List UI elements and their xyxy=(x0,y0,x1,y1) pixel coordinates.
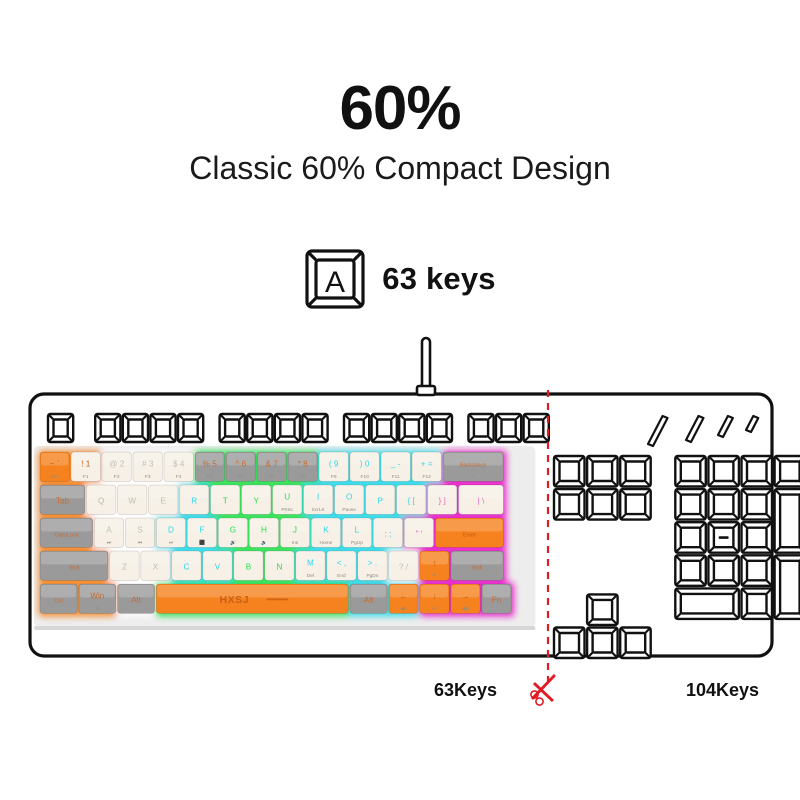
key-legend-main: ↑ xyxy=(432,558,436,567)
key-c[interactable]: C xyxy=(172,551,201,580)
key-legend-main: U xyxy=(284,492,290,501)
key-shift[interactable]: Shift xyxy=(40,551,108,580)
key-i[interactable]: IScrLK xyxy=(304,485,333,514)
key-legend-sub: F9 xyxy=(331,474,337,480)
outline-key-nav-top xyxy=(496,414,521,442)
key-fn[interactable]: Fn xyxy=(482,584,511,613)
key-legend-main: $ 4 xyxy=(173,459,185,468)
key-legend-main: C xyxy=(183,563,189,572)
outline-key-numpad xyxy=(708,456,739,487)
caption-63-keys: 63Keys xyxy=(434,680,497,701)
key-legend-sub: Ins xyxy=(292,540,299,546)
key-m[interactable]: MDel xyxy=(296,551,325,580)
outline-key-numpad xyxy=(742,555,773,586)
key-legend-sub: ⏭ xyxy=(107,541,112,546)
key--[interactable]: ↓☀ xyxy=(420,584,449,613)
key-legend-main: A xyxy=(106,525,112,534)
keycap-top xyxy=(747,594,767,614)
key-legend-sub: ◀× xyxy=(400,606,407,612)
page-subtitle: Classic 60% Compact Design xyxy=(0,150,800,187)
key-n[interactable]: N xyxy=(265,551,294,580)
key-h[interactable]: H🔉 xyxy=(249,518,278,547)
key--8[interactable]: * 8F8 xyxy=(288,452,317,481)
key-legend-main: ← xyxy=(399,591,407,600)
key-enter[interactable]: Enter xyxy=(435,518,503,547)
outline-key-numpad xyxy=(675,456,706,487)
key-legend-main: N xyxy=(276,563,282,572)
key-legend-main: S xyxy=(137,525,143,534)
key--5[interactable]: % 5F5 xyxy=(195,452,224,481)
keycap-top xyxy=(593,600,613,620)
keycap-top xyxy=(747,561,767,581)
outline-key-nav xyxy=(620,489,651,519)
keycap-top xyxy=(747,528,767,548)
key-legend-sub: ⏯ xyxy=(169,541,173,546)
key--[interactable]: " ' xyxy=(404,518,433,547)
key-legend-sub: 🔊 xyxy=(230,539,236,546)
key-legend-sub: F4 xyxy=(176,474,182,480)
key-legend-main: R xyxy=(191,497,197,506)
outline-key-numpad xyxy=(708,555,739,586)
key-w[interactable]: W xyxy=(118,485,147,514)
key-d[interactable]: D⏯ xyxy=(156,518,185,547)
key-legend-main: X xyxy=(153,563,159,572)
key-legend-main: : ; xyxy=(385,530,392,539)
key-legend-main: & 7 xyxy=(266,459,279,468)
key-legend-sub: End xyxy=(337,573,346,579)
caption-104-keys: 104Keys xyxy=(686,680,759,701)
key-backspace[interactable]: Backspace○ xyxy=(443,452,503,481)
key-legend-sub: 🔉 xyxy=(261,540,267,546)
keycap-top xyxy=(714,462,734,482)
key-row-home-row: CapsLockA⏭S⏮D⏯F⬛G🔊H🔉JInsKHomeLPgUp: ;" '… xyxy=(40,518,503,547)
key-s[interactable]: S⏮ xyxy=(125,518,154,547)
keycap-top xyxy=(681,561,701,581)
keycap-top xyxy=(474,420,488,437)
key-legend-main: * 8 xyxy=(298,459,308,468)
outline-key-numpad xyxy=(742,456,773,487)
keycap-top xyxy=(681,528,701,548)
keyboard-front-lip xyxy=(34,626,535,630)
outline-key-arrow xyxy=(620,628,651,659)
key--[interactable]: + =F12 xyxy=(412,452,441,481)
key-legend-main: P xyxy=(377,497,383,506)
keycap-top xyxy=(101,420,115,437)
key-legend-main: | \ xyxy=(478,497,485,506)
key--[interactable]: | \ xyxy=(459,485,504,514)
key-legend-main: # 3 xyxy=(142,459,154,468)
key-count-label: 63 keys xyxy=(382,261,495,297)
key--1[interactable]: ! 1F1 xyxy=(71,452,100,481)
keycap-top xyxy=(780,561,800,614)
key--[interactable]: < ,End xyxy=(327,551,356,580)
key-legend-sub: ◀)) xyxy=(462,606,469,612)
key-u[interactable]: UPrtSc xyxy=(273,485,302,514)
keycap-top xyxy=(560,495,580,514)
key-legend-main: ? / xyxy=(399,563,409,572)
keycap-top xyxy=(747,495,767,514)
key-legend-main: CapsLock xyxy=(54,533,78,539)
compact-keyboard-keys: ~ `Esc! 1F1@ 2F2# 3F3$ 4F4% 5F5^ 6F6& 7F… xyxy=(40,452,511,613)
key-legend-main: ( 9 xyxy=(329,459,339,468)
key-row-shift-row: ShiftZXCVBNMDel< ,End> .PgDn? /↑☀Shift xyxy=(40,551,503,580)
outline-key-function xyxy=(399,414,424,442)
key-ctrl[interactable]: Ctrl xyxy=(40,584,77,613)
key-legend-main: F xyxy=(199,525,204,534)
outline-key-numpad xyxy=(675,489,706,519)
key-row-modifier-row: CtrlWin⊞AltHXSJAlt←◀×↓☀→◀))Fn xyxy=(40,584,511,613)
keycap-top xyxy=(529,420,543,437)
key-v[interactable]: V xyxy=(203,551,232,580)
key--[interactable]: : ; xyxy=(373,518,402,547)
outline-key-numpad xyxy=(742,489,773,519)
key-legend-sub: F11 xyxy=(392,474,400,480)
outline-key-numpad xyxy=(675,522,706,553)
keycap-top xyxy=(780,495,800,548)
key-legend-main: Shift xyxy=(472,566,483,572)
key--9[interactable]: ( 9F9 xyxy=(319,452,348,481)
page-title: 60% xyxy=(0,78,800,140)
key-legend-main: + = xyxy=(421,459,433,468)
key-legend-main: L xyxy=(355,525,360,534)
key-shift[interactable]: Shift xyxy=(451,551,504,580)
key--7[interactable]: & 7F7 xyxy=(257,452,286,481)
outline-key-nav-top xyxy=(524,414,549,442)
key-legend-sub: F3 xyxy=(145,474,151,480)
key-legend-main: J xyxy=(293,525,297,534)
outline-key-numpad-zero xyxy=(675,588,739,619)
cable-connector xyxy=(417,386,435,395)
key--[interactable]: ? / xyxy=(389,551,418,580)
keycap-top xyxy=(502,420,516,437)
keyboard-illustration: ~ `Esc! 1F1@ 2F2# 3F3$ 4F4% 5F5^ 6F6& 7F… xyxy=(0,330,800,730)
keycap-top xyxy=(626,462,646,482)
outline-key-arrow xyxy=(554,628,585,659)
keycap-top xyxy=(593,495,613,514)
key-legend-main: Tab xyxy=(56,497,70,506)
key-legend-main: { [ xyxy=(408,497,416,506)
keycap-highlight xyxy=(452,552,503,564)
keycap-top xyxy=(560,633,580,653)
outline-key-numpad-dot xyxy=(742,588,773,619)
key-legend-sub: PgUp xyxy=(351,540,363,546)
outline-key-function xyxy=(95,414,120,442)
key-legend-sub: F6 xyxy=(238,474,244,480)
keycap-top xyxy=(405,420,419,437)
key-legend-sub: PrtSc xyxy=(281,507,293,513)
outline-key-numpad xyxy=(775,456,800,487)
keycap-highlight xyxy=(41,519,92,531)
key-t[interactable]: T xyxy=(211,485,240,514)
keycap-top xyxy=(560,462,580,482)
key-legend-main: ↓ xyxy=(432,591,436,600)
key-legend-main: ~ ` xyxy=(50,459,60,468)
key-legend-main: Q xyxy=(98,497,104,506)
keycap-a-icon: A xyxy=(304,248,366,310)
outline-key-arrow xyxy=(587,628,618,659)
key-legend-main: G xyxy=(230,525,236,534)
key--[interactable]: > .PgDn xyxy=(358,551,387,580)
spacebar-dash xyxy=(266,599,288,601)
outline-key-nav xyxy=(554,456,585,487)
key-legend-main: ! 1 xyxy=(81,459,91,468)
key-legend-sub: F7 xyxy=(269,474,275,480)
key-f[interactable]: F⬛ xyxy=(187,518,216,547)
keycap-top xyxy=(593,462,613,482)
key-b[interactable]: B xyxy=(234,551,263,580)
key-legend-sub: ⊞ xyxy=(95,606,99,612)
keycap-top xyxy=(184,420,198,437)
key-j[interactable]: JIns xyxy=(280,518,309,547)
keycap-top xyxy=(128,420,142,437)
keycap-highlight xyxy=(41,585,76,597)
key--6[interactable]: ^ 6F6 xyxy=(226,452,255,481)
keycap-highlight xyxy=(41,552,107,564)
key-tab[interactable]: Tab xyxy=(40,485,85,514)
key-k[interactable]: KHome xyxy=(311,518,340,547)
key-legend-sub: F2 xyxy=(114,474,120,480)
key-legend-main: → xyxy=(461,591,469,600)
keycap-top xyxy=(308,420,322,437)
key-legend-main: Y xyxy=(253,497,259,506)
key-win[interactable]: Win⊞ xyxy=(79,584,116,613)
key-legend-sub: F12 xyxy=(423,474,432,480)
key--[interactable]: ←◀× xyxy=(389,584,418,613)
key-legend-sub: Pause xyxy=(342,507,356,513)
key-legend-main: D xyxy=(168,525,174,534)
outline-key-numpad xyxy=(675,555,706,586)
outline-key-numpad-enter xyxy=(775,555,800,619)
key-a[interactable]: A⏭ xyxy=(94,518,123,547)
key-legend-main: Win xyxy=(90,591,105,600)
key-q[interactable]: Q xyxy=(87,485,116,514)
keycap-top xyxy=(54,420,68,437)
keyboard-cable xyxy=(417,338,435,395)
outline-key-numpad-plus xyxy=(775,489,800,553)
key-legend-main: O xyxy=(346,492,352,501)
spacebar-brand-label: HXSJ xyxy=(219,594,249,606)
outline-key-function xyxy=(123,414,148,442)
outline-key-function xyxy=(178,414,203,442)
key-capslock[interactable]: CapsLock xyxy=(40,518,93,547)
outline-key-function xyxy=(247,414,272,442)
key-legend-main: Alt xyxy=(364,596,374,605)
keycap-top xyxy=(593,633,613,653)
keycap-top xyxy=(714,561,734,581)
key-legend-sub: ⬛ xyxy=(199,539,205,546)
keycap-top xyxy=(225,420,239,437)
key-hxsj[interactable]: HXSJ xyxy=(156,584,348,613)
key--4[interactable]: $ 4F4 xyxy=(164,452,193,481)
keycap-highlight xyxy=(436,519,502,531)
numpad-homing-bar xyxy=(719,536,729,539)
keycap-highlight xyxy=(157,585,347,597)
keycap-top xyxy=(626,495,646,514)
keycap-top xyxy=(253,420,267,437)
key-legend-main: Z xyxy=(122,563,127,572)
key-legend-main: T xyxy=(223,497,228,506)
key-legend-main: Ctrl xyxy=(54,599,62,605)
key-legend-sub: F10 xyxy=(361,474,370,480)
key-legend-main: M xyxy=(307,558,314,567)
key-legend-main: % 5 xyxy=(203,459,218,468)
svg-text:A: A xyxy=(325,266,345,299)
key-legend-main: ) 0 xyxy=(360,459,370,468)
outline-key-numpad xyxy=(708,489,739,519)
keycap-top xyxy=(681,462,701,482)
key-legend-sub: ☀ xyxy=(432,606,437,612)
outline-key-nav xyxy=(554,489,585,519)
key--[interactable]: { [ xyxy=(397,485,426,514)
key-legend-main: } ] xyxy=(439,497,446,506)
key-legend-sub: F5 xyxy=(207,474,213,480)
key--[interactable]: _ -F11 xyxy=(381,452,410,481)
key-legend-sub: Esc xyxy=(51,474,60,480)
keycap-top xyxy=(350,420,364,437)
key--[interactable]: ~ `Esc xyxy=(40,452,69,481)
key-legend-main: B xyxy=(246,563,252,572)
keycap-top xyxy=(377,420,391,437)
key-alt[interactable]: Alt xyxy=(118,584,155,613)
outline-key-function xyxy=(372,414,397,442)
key-legend-main: ^ 6 xyxy=(235,459,246,468)
keycap-top xyxy=(626,633,646,653)
key--2[interactable]: @ 2F2 xyxy=(102,452,131,481)
key-e[interactable]: E xyxy=(149,485,178,514)
key-alt[interactable]: Alt xyxy=(350,584,387,613)
key-legend-sub: ScrLK xyxy=(312,507,326,513)
outline-key-function xyxy=(302,414,327,442)
key-legend-sub: ○ xyxy=(472,475,475,480)
scissors-icon xyxy=(528,668,562,708)
key-legend-sub: F1 xyxy=(83,474,89,480)
keycap-top xyxy=(280,420,294,437)
key-p[interactable]: P xyxy=(366,485,395,514)
keycap-top xyxy=(681,495,701,514)
key--0[interactable]: ) 0F10 xyxy=(350,452,379,481)
key-legend-sub: Home xyxy=(320,540,333,546)
key-legend-main: < , xyxy=(337,558,346,567)
key-legend-sub: Del xyxy=(307,573,314,579)
key-legend-main: > . xyxy=(368,558,377,567)
headline-block: 60% Classic 60% Compact Design xyxy=(0,78,800,187)
outline-key-function xyxy=(275,414,300,442)
key-g[interactable]: G🔊 xyxy=(218,518,247,547)
key-legend-main: E xyxy=(160,497,166,506)
outline-key-nav xyxy=(587,456,618,487)
key-legend-main: K xyxy=(323,525,329,534)
key-legend-main: H xyxy=(261,525,267,534)
outline-key-function xyxy=(220,414,245,442)
product-infographic: 60% Classic 60% Compact Design A 63 keys… xyxy=(0,0,800,800)
key-legend-sub: F8 xyxy=(300,474,306,480)
outline-key-nav xyxy=(620,456,651,487)
keycap-top xyxy=(156,420,170,437)
key-legend-main: _ - xyxy=(390,459,401,468)
key-row-function-row: ~ `Esc! 1F1@ 2F2# 3F3$ 4F4% 5F5^ 6F6& 7F… xyxy=(40,452,503,481)
key-legend-main: Alt xyxy=(131,596,141,605)
key-count-badge: A 63 keys xyxy=(0,248,800,310)
outline-key-function xyxy=(427,414,452,442)
key--[interactable]: →◀)) xyxy=(451,584,480,613)
key-o[interactable]: OPause xyxy=(335,485,364,514)
keycap-top xyxy=(780,462,800,482)
keycap-top xyxy=(681,594,734,614)
key-legend-main: Enter xyxy=(463,533,476,539)
key-legend-main: I xyxy=(317,492,319,501)
keycap-top xyxy=(714,495,734,514)
key-legend-main: Backspace xyxy=(460,462,486,468)
outline-key-numpad xyxy=(742,522,773,553)
key-y[interactable]: Y xyxy=(242,485,271,514)
key-legend-main: W xyxy=(128,497,136,506)
key-l[interactable]: LPgUp xyxy=(342,518,371,547)
key-legend-main: V xyxy=(215,563,221,572)
outline-key-function xyxy=(150,414,175,442)
key-legend-main: Shift xyxy=(69,566,80,572)
key--[interactable]: ↑☀ xyxy=(420,551,449,580)
key--3[interactable]: # 3F3 xyxy=(133,452,162,481)
key-legend-sub: PgDn xyxy=(366,573,378,579)
key-legend-sub: ☀ xyxy=(432,573,437,579)
outline-key-esc xyxy=(48,414,73,442)
outline-function-row xyxy=(48,414,549,442)
outline-key-function xyxy=(344,414,369,442)
outline-key-nav-top xyxy=(468,414,493,442)
outline-key-arrow-up xyxy=(587,594,618,625)
keycap-top xyxy=(432,420,446,437)
key-legend-main: @ 2 xyxy=(109,459,125,468)
outline-key-nav xyxy=(587,489,618,519)
key-legend-main: Fn xyxy=(492,596,502,605)
key-legend-sub: ⏮ xyxy=(138,541,143,546)
key--[interactable]: } ] xyxy=(428,485,457,514)
keycap-top xyxy=(747,462,767,482)
key-legend-main: " ' xyxy=(416,530,423,539)
key-r[interactable]: R xyxy=(180,485,209,514)
key-z[interactable]: Z xyxy=(110,551,139,580)
key-x[interactable]: X xyxy=(141,551,170,580)
